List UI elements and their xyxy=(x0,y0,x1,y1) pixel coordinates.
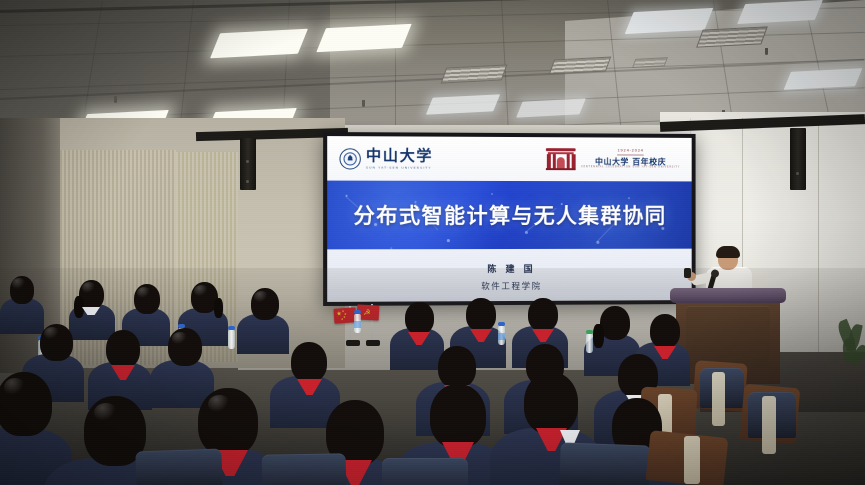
slide-title: 分布式智能计算与无人集群协同 xyxy=(353,200,666,230)
seat-cloth-cover xyxy=(712,372,725,426)
auditorium-seat xyxy=(135,449,222,485)
sprinkler-icon xyxy=(362,100,365,107)
lecture-hall-photo: 中山大学 SUN YAT-SEN UNIVERSITY xyxy=(0,0,865,485)
centennial-logo: 1924-2024 中山大学 百年校庆 CENTENNIAL CELEBRATI… xyxy=(546,148,680,170)
seat-cloth-cover xyxy=(684,436,700,484)
presenter-hair xyxy=(716,246,740,258)
sprinkler-icon xyxy=(765,48,768,55)
water-bottle xyxy=(354,314,361,333)
sprinkler-icon xyxy=(114,96,117,103)
water-bottle xyxy=(228,330,235,349)
wall-speaker-icon xyxy=(790,128,806,190)
ceiling-light-panel xyxy=(625,8,714,34)
wall-speaker-icon xyxy=(240,138,256,190)
sun-yat-sen-university-seal-icon xyxy=(339,148,360,169)
centennial-years: 1924-2024 xyxy=(617,150,643,156)
water-bottle xyxy=(586,334,593,353)
centennial-text: 1924-2024 中山大学 百年校庆 CENTENNIAL CELEBRATI… xyxy=(581,149,680,169)
ceiling-light-panel xyxy=(426,94,500,114)
university-name-en: SUN YAT-SEN UNIVERSITY xyxy=(366,165,433,169)
seat-cloth-cover xyxy=(762,396,776,454)
hvac-vent-icon xyxy=(632,57,668,68)
auditorium-seat xyxy=(559,442,650,485)
hvac-vent-icon xyxy=(441,64,508,83)
audience xyxy=(0,268,865,485)
centennial-name-en: CENTENNIAL CELEBRATION SUN YAT-SEN UNIVE… xyxy=(581,166,680,169)
slide-title-band: 分布式智能计算与无人集群协同 xyxy=(327,181,691,250)
university-name-cn: 中山大学 xyxy=(366,148,433,163)
hvac-vent-icon xyxy=(696,26,768,47)
ceiling-light-panel xyxy=(316,24,411,52)
auditorium-seat xyxy=(382,458,468,485)
auditorium-seat xyxy=(262,453,347,485)
water-bottle xyxy=(498,326,505,345)
slide-header: 中山大学 SUN YAT-SEN UNIVERSITY xyxy=(327,136,691,181)
centennial-name-cn: 中山大学 百年校庆 xyxy=(595,157,666,165)
centennial-gate-icon xyxy=(546,148,576,170)
university-logo: 中山大学 SUN YAT-SEN UNIVERSITY xyxy=(339,148,433,170)
ceiling-light-panel xyxy=(210,29,308,59)
ceiling-shadow-left xyxy=(0,0,330,120)
